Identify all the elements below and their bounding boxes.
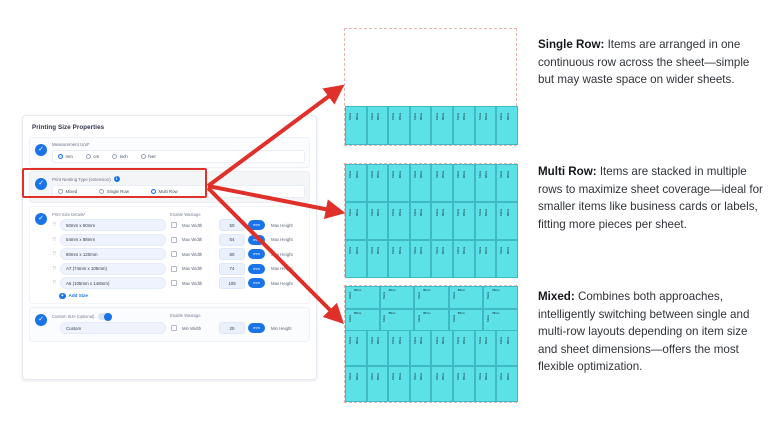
mixed-bottom-cells: 54mm88mm54mm88mm54mm88mm54mm88mm54mm88mm… bbox=[345, 330, 518, 402]
plus-icon: + bbox=[59, 293, 66, 300]
custom-header: Custom Size (optional) Enable Wastage bbox=[52, 312, 305, 322]
max-width-label: Max Width bbox=[182, 252, 216, 257]
mixed-top-cells: 88mm54mm88mm54mm88mm54mm88mm54mm88mm54mm… bbox=[345, 286, 518, 332]
cell-label-height: 54mm bbox=[453, 292, 456, 299]
add-size-button[interactable]: + Add Size bbox=[52, 292, 305, 300]
cell-label-height: 88mm bbox=[507, 337, 510, 344]
wastage-checkbox[interactable] bbox=[171, 237, 177, 243]
cell-label-width: 88mm bbox=[423, 289, 430, 292]
cell-label-width: 54mm bbox=[414, 209, 417, 216]
diagram-mixed-sheet: 88mm54mm88mm54mm88mm54mm88mm54mm88mm54mm… bbox=[344, 285, 517, 403]
wastage-checkbox[interactable] bbox=[171, 280, 177, 286]
sheet-cell: 88mm54mm bbox=[345, 286, 380, 309]
cell-label-height: 88mm bbox=[399, 113, 402, 120]
cell-label-height: 88mm bbox=[485, 247, 488, 254]
cell-label-width: 54mm bbox=[349, 209, 352, 216]
custom-size-input[interactable]: Custom bbox=[60, 322, 166, 334]
sheet-cell: 88mm54mm bbox=[483, 286, 518, 309]
cell-label-height: 88mm bbox=[442, 337, 445, 344]
cell-label-width: 54mm bbox=[436, 171, 439, 178]
sheet-cell: 54mm88mm bbox=[345, 330, 367, 366]
label-enable-wastage: Enable Wastage bbox=[170, 212, 201, 217]
sheet-cell: 54mm88mm bbox=[345, 106, 367, 145]
sheet-cell: 54mm88mm bbox=[388, 330, 410, 366]
cell-label-width: 54mm bbox=[371, 337, 374, 344]
cell-label-width: 54mm bbox=[500, 113, 503, 120]
cell-label-width: 88mm bbox=[492, 289, 499, 292]
cell-label-height: 88mm bbox=[442, 209, 445, 216]
size-name-input[interactable]: 50mm x 50mm bbox=[60, 219, 166, 231]
annotation-term-multi-row: Multi Row: bbox=[538, 165, 597, 178]
custom-size-toggle[interactable] bbox=[98, 313, 112, 320]
max-width-label: Max Width bbox=[182, 266, 216, 271]
min-width-label: Min Width bbox=[182, 326, 216, 331]
max-width-input[interactable]: 105 bbox=[219, 277, 245, 289]
cell-label-height: 88mm bbox=[356, 373, 359, 380]
wastage-checkbox-custom[interactable] bbox=[171, 325, 177, 331]
annotation-term-single-row: Single Row: bbox=[538, 38, 604, 51]
check-icon-custom: ✓ bbox=[35, 314, 47, 326]
radio-dot-cm bbox=[86, 154, 91, 159]
cell-label-width: 54mm bbox=[371, 171, 374, 178]
cell-label-height: 88mm bbox=[463, 113, 466, 120]
cell-label-width: 54mm bbox=[436, 337, 439, 344]
page-title: Printing Size Properties bbox=[23, 116, 316, 137]
sheet-cell: 54mm88mm bbox=[367, 330, 389, 366]
max-width-label: Max Width bbox=[182, 281, 216, 286]
cell-label-height: 88mm bbox=[377, 247, 380, 254]
sheet-cell: 54mm88mm bbox=[475, 164, 497, 202]
sheet-cell: 88mm54mm bbox=[380, 309, 415, 332]
radio-dot-single-row bbox=[99, 189, 104, 194]
custom-size-row: Custom Min Width 20 mm Min Height bbox=[52, 322, 305, 334]
cell-label-width: 54mm bbox=[414, 171, 417, 178]
nesting-label-text: Print Nesting Type (extension) bbox=[52, 177, 111, 182]
unit-badge: mm bbox=[248, 264, 265, 274]
annotation-mixed: Mixed: Combines both approaches, intelli… bbox=[538, 288, 766, 376]
cell-label-height: 88mm bbox=[463, 247, 466, 254]
cell-label-height: 88mm bbox=[377, 373, 380, 380]
cell-label-width: 88mm bbox=[389, 312, 396, 315]
annotation-term-mixed: Mixed: bbox=[538, 290, 575, 303]
cell-label-height: 88mm bbox=[507, 247, 510, 254]
cell-label-height: 88mm bbox=[399, 209, 402, 216]
max-width-input[interactable]: 80 bbox=[219, 248, 245, 260]
sheet-cell: 88mm54mm bbox=[483, 309, 518, 332]
sheet-cell: 88mm54mm bbox=[414, 286, 449, 309]
radio-nesting-single-row[interactable]: Single Row bbox=[99, 189, 129, 194]
multi-row-cells: 54mm88mm54mm88mm54mm88mm54mm88mm54mm88mm… bbox=[345, 164, 518, 278]
sheet-cell: 54mm88mm bbox=[453, 366, 475, 402]
sheet-cell: 54mm88mm bbox=[367, 164, 389, 202]
cell-label-height: 54mm bbox=[418, 292, 421, 299]
cell-label-height: 88mm bbox=[399, 247, 402, 254]
cell-label-width: 54mm bbox=[500, 373, 503, 380]
cell-label-width: 54mm bbox=[436, 209, 439, 216]
sheet-cell: 54mm88mm bbox=[431, 240, 453, 278]
sheet-cell: 54mm88mm bbox=[410, 164, 432, 202]
radio-dot-mixed bbox=[58, 189, 63, 194]
drag-handle-icon[interactable]: ⠿ bbox=[52, 266, 57, 272]
sheet-cell: 88mm54mm bbox=[345, 309, 380, 332]
radio-group-measurement-unit: mm cm inch feet bbox=[52, 150, 305, 163]
cell-label-height: 88mm bbox=[399, 171, 402, 178]
check-icon-nesting: ✓ bbox=[35, 178, 47, 190]
cell-label-height: 88mm bbox=[377, 337, 380, 344]
unit-badge: mm bbox=[248, 220, 265, 230]
sheet-cell: 54mm88mm bbox=[496, 164, 518, 202]
cell-label-height: 88mm bbox=[420, 337, 423, 344]
cell-label-width: 54mm bbox=[457, 247, 460, 254]
cell-label-height: 88mm bbox=[507, 373, 510, 380]
sheet-cell: 54mm88mm bbox=[496, 366, 518, 402]
cell-label-width: 54mm bbox=[349, 337, 352, 344]
wastage-checkbox[interactable] bbox=[171, 222, 177, 228]
unit-badge: mm bbox=[248, 235, 265, 245]
cell-label-width: 54mm bbox=[479, 171, 482, 178]
sheet-cell: 54mm88mm bbox=[496, 330, 518, 366]
sheet-cell: 54mm88mm bbox=[388, 106, 410, 145]
max-height-label: Max Height bbox=[271, 266, 293, 271]
cell-label-width: 54mm bbox=[349, 373, 352, 380]
max-width-input[interactable]: 74 bbox=[219, 263, 245, 275]
add-size-label: Add Size bbox=[69, 293, 88, 298]
sheet-cell: 54mm88mm bbox=[388, 202, 410, 240]
cell-label-height: 54mm bbox=[487, 315, 490, 322]
sheet-cell: 88mm54mm bbox=[449, 286, 484, 309]
cell-label-height: 88mm bbox=[463, 171, 466, 178]
cell-label-width: 88mm bbox=[354, 312, 361, 315]
cell-label-height: 88mm bbox=[399, 373, 402, 380]
cell-label-width: 54mm bbox=[457, 113, 460, 120]
cell-label-width: 88mm bbox=[354, 289, 361, 292]
sheet-cell: 54mm88mm bbox=[367, 366, 389, 402]
info-icon[interactable]: i bbox=[114, 176, 120, 182]
cell-label-width: 54mm bbox=[457, 171, 460, 178]
cell-label-height: 88mm bbox=[463, 209, 466, 216]
cell-label-height: 88mm bbox=[485, 171, 488, 178]
sheet-cell: 54mm88mm bbox=[431, 202, 453, 240]
sheet-cell: 88mm54mm bbox=[414, 309, 449, 332]
cell-label-width: 54mm bbox=[500, 247, 503, 254]
sheet-cell: 54mm88mm bbox=[453, 240, 475, 278]
cell-label-height: 88mm bbox=[442, 113, 445, 120]
section-print-size-details: ✓ Print Size Details* Enable Wastage ⠿ 5… bbox=[29, 206, 310, 304]
diagram-single-row-sheet: 54mm88mm54mm88mm54mm88mm54mm88mm54mm88mm… bbox=[344, 28, 517, 146]
cell-label-width: 54mm bbox=[349, 247, 352, 254]
radio-unit-mm[interactable]: mm bbox=[58, 154, 73, 159]
cell-label-width: 54mm bbox=[392, 247, 395, 254]
cell-label-width: 54mm bbox=[436, 373, 439, 380]
cell-label-height: 88mm bbox=[356, 247, 359, 254]
sheet-cell: 88mm54mm bbox=[449, 309, 484, 332]
diagram-multi-row-sheet: 54mm88mm54mm88mm54mm88mm54mm88mm54mm88mm… bbox=[344, 163, 517, 277]
cell-label-width: 88mm bbox=[389, 289, 396, 292]
cell-label-height: 88mm bbox=[420, 373, 423, 380]
sheet-cell: 88mm54mm bbox=[380, 286, 415, 309]
radio-nesting-multi-row[interactable]: Multi Row bbox=[151, 189, 178, 194]
label-print-size-details: Print Size Details* bbox=[52, 212, 170, 217]
sheet-cell: 54mm88mm bbox=[431, 164, 453, 202]
sheet-cell: 54mm88mm bbox=[410, 330, 432, 366]
cell-label-height: 88mm bbox=[377, 209, 380, 216]
max-height-label: Max Height bbox=[271, 223, 293, 228]
wastage-checkbox[interactable] bbox=[171, 251, 177, 257]
sheet-cell: 54mm88mm bbox=[496, 240, 518, 278]
sheet-cell: 54mm88mm bbox=[475, 366, 497, 402]
cell-label-width: 54mm bbox=[500, 171, 503, 178]
cell-label-height: 54mm bbox=[418, 315, 421, 322]
cell-label-width: 54mm bbox=[371, 113, 374, 120]
radio-nesting-mixed[interactable]: Mixed bbox=[58, 189, 77, 194]
sheet-cell: 54mm88mm bbox=[453, 330, 475, 366]
unit-badge: mm bbox=[248, 249, 265, 259]
label-custom-size: Custom Size (optional) bbox=[52, 314, 94, 319]
cell-label-width: 54mm bbox=[500, 337, 503, 344]
sheet-cell: 54mm88mm bbox=[410, 240, 432, 278]
max-width-input[interactable]: 54 bbox=[219, 234, 245, 246]
cell-label-width: 54mm bbox=[457, 209, 460, 216]
cell-label-width: 54mm bbox=[414, 113, 417, 120]
max-height-label: Max Height bbox=[271, 281, 293, 286]
cell-label-width: 88mm bbox=[458, 312, 465, 315]
radio-dot-multi-row bbox=[151, 189, 156, 194]
min-height-label: Min Height bbox=[271, 326, 292, 331]
cell-label-height: 54mm bbox=[383, 292, 386, 299]
cell-label-height: 88mm bbox=[420, 171, 423, 178]
sheet-cell: 54mm88mm bbox=[410, 106, 432, 145]
cell-label-height: 88mm bbox=[485, 337, 488, 344]
section-custom-size: ✓ Custom Size (optional) Enable Wastage … bbox=[29, 307, 310, 342]
sheet-cell: 54mm88mm bbox=[475, 330, 497, 366]
cell-label-height: 88mm bbox=[420, 113, 423, 120]
cell-label-height: 88mm bbox=[507, 171, 510, 178]
radio-unit-feet[interactable]: feet bbox=[141, 154, 156, 159]
cell-label-height: 88mm bbox=[485, 209, 488, 216]
cell-label-width: 54mm bbox=[392, 209, 395, 216]
sheet-cell: 54mm88mm bbox=[345, 164, 367, 202]
size-name-input[interactable]: A6 (105mm x 148mm) bbox=[60, 277, 166, 289]
cell-label-height: 54mm bbox=[453, 315, 456, 322]
radio-dot-feet bbox=[141, 154, 146, 159]
cell-label-width: 54mm bbox=[349, 171, 352, 178]
max-height-label: Max Height bbox=[271, 252, 293, 257]
cell-label-height: 54mm bbox=[487, 292, 490, 299]
check-icon-size-details: ✓ bbox=[35, 213, 47, 225]
cell-label-width: 54mm bbox=[392, 373, 395, 380]
cell-label-width: 54mm bbox=[349, 113, 352, 120]
table-row: ⠿ 54mm x 88mm Max Width 54 mm Max Height bbox=[52, 234, 305, 246]
cell-label-width: 54mm bbox=[479, 247, 482, 254]
sheet-cell: 54mm88mm bbox=[496, 106, 518, 145]
sheet-cell: 54mm88mm bbox=[410, 366, 432, 402]
cell-label-height: 88mm bbox=[442, 171, 445, 178]
cell-label-width: 88mm bbox=[423, 312, 430, 315]
radio-unit-cm[interactable]: cm bbox=[86, 154, 99, 159]
cell-label-height: 88mm bbox=[356, 113, 359, 120]
radio-group-nesting-type: Mixed Single Row Multi Row bbox=[52, 185, 305, 198]
size-table-header: Print Size Details* Enable Wastage bbox=[52, 211, 305, 219]
table-row: ⠿ A7 (74mm x 105mm) Max Width 74 mm Max … bbox=[52, 263, 305, 275]
check-icon-measurement: ✓ bbox=[35, 144, 47, 156]
cell-label-width: 54mm bbox=[371, 373, 374, 380]
cell-label-width: 54mm bbox=[479, 373, 482, 380]
label-enable-wastage-custom: Enable Wastage bbox=[170, 313, 201, 320]
sheet-cell: 54mm88mm bbox=[453, 106, 475, 145]
size-name-input[interactable]: A7 (74mm x 105mm) bbox=[60, 263, 166, 275]
cell-label-width: 54mm bbox=[500, 209, 503, 216]
label-print-nesting-type: Print Nesting Type (extension) i bbox=[52, 176, 305, 182]
sheet-cell: 54mm88mm bbox=[388, 164, 410, 202]
cell-label-width: 54mm bbox=[457, 337, 460, 344]
sheet-cell: 54mm88mm bbox=[431, 106, 453, 145]
wastage-checkbox[interactable] bbox=[171, 266, 177, 272]
section-print-nesting-type: ✓ Print Nesting Type (extension) i Mixed… bbox=[29, 171, 310, 203]
cell-label-height: 88mm bbox=[356, 209, 359, 216]
unit-badge-custom: mm bbox=[248, 323, 265, 333]
cell-label-height: 88mm bbox=[485, 113, 488, 120]
sheet-cell: 54mm88mm bbox=[475, 202, 497, 240]
cell-label-height: 88mm bbox=[420, 247, 423, 254]
max-width-label: Max Width bbox=[182, 223, 216, 228]
sheet-cell: 54mm88mm bbox=[496, 202, 518, 240]
cell-label-height: 88mm bbox=[507, 113, 510, 120]
sheet-cell: 54mm88mm bbox=[475, 240, 497, 278]
drag-handle-icon[interactable]: ⠿ bbox=[52, 237, 57, 243]
annotation-multi-row: Multi Row: Items are stacked in multiple… bbox=[538, 163, 766, 233]
cell-label-width: 54mm bbox=[414, 247, 417, 254]
sheet-cell: 54mm88mm bbox=[453, 202, 475, 240]
cell-label-height: 88mm bbox=[442, 373, 445, 380]
cell-label-height: 88mm bbox=[356, 337, 359, 344]
cell-label-width: 54mm bbox=[479, 113, 482, 120]
cell-label-height: 88mm bbox=[442, 247, 445, 254]
drag-handle-icon[interactable]: ⠿ bbox=[52, 251, 57, 257]
cell-label-width: 54mm bbox=[436, 113, 439, 120]
sheet-cell: 54mm88mm bbox=[367, 106, 389, 145]
label-measurement-unit: Measurement Unit* bbox=[52, 142, 305, 147]
cell-label-height: 54mm bbox=[383, 315, 386, 322]
cell-label-width: 54mm bbox=[479, 209, 482, 216]
size-name-input[interactable]: 80mm x 120mm bbox=[60, 248, 166, 260]
radio-unit-inch[interactable]: inch bbox=[112, 154, 128, 159]
min-width-input[interactable]: 20 bbox=[219, 322, 245, 334]
sheet-cell: 54mm88mm bbox=[367, 240, 389, 278]
sheet-cell: 54mm88mm bbox=[367, 202, 389, 240]
table-row: ⠿ 80mm x 120mm Max Width 80 mm Max Heigh… bbox=[52, 248, 305, 260]
cell-label-height: 88mm bbox=[463, 337, 466, 344]
cell-label-height: 54mm bbox=[349, 292, 352, 299]
cell-label-width: 88mm bbox=[492, 312, 499, 315]
cell-label-width: 54mm bbox=[371, 209, 374, 216]
sheet-cell: 54mm88mm bbox=[388, 240, 410, 278]
sheet-cell: 54mm88mm bbox=[345, 240, 367, 278]
sheet-cell: 54mm88mm bbox=[345, 202, 367, 240]
annotation-single-row: Single Row: Items are arranged in one co… bbox=[538, 36, 766, 89]
cell-label-height: 88mm bbox=[420, 209, 423, 216]
max-width-label: Max Width bbox=[182, 237, 216, 242]
cell-label-height: 88mm bbox=[485, 373, 488, 380]
drag-handle-icon[interactable]: ⠿ bbox=[52, 222, 57, 228]
sheet-cell: 54mm88mm bbox=[345, 366, 367, 402]
cell-label-height: 88mm bbox=[377, 113, 380, 120]
sheet-cell: 54mm88mm bbox=[410, 202, 432, 240]
sheet-cell: 54mm88mm bbox=[453, 164, 475, 202]
cell-label-width: 54mm bbox=[414, 373, 417, 380]
radio-dot-inch bbox=[112, 154, 117, 159]
size-name-input[interactable]: 54mm x 88mm bbox=[60, 234, 166, 246]
section-measurement-unit: ✓ Measurement Unit* mm cm inch feet bbox=[29, 137, 310, 168]
cell-label-height: 88mm bbox=[356, 171, 359, 178]
slide-canvas: Printing Size Properties ✓ Measurement U… bbox=[0, 0, 768, 432]
max-width-input[interactable]: 50 bbox=[219, 219, 245, 231]
cell-label-height: 88mm bbox=[463, 373, 466, 380]
sheet-cell: 54mm88mm bbox=[475, 106, 497, 145]
single-row-cells: 54mm88mm54mm88mm54mm88mm54mm88mm54mm88mm… bbox=[345, 106, 518, 145]
cell-label-width: 88mm bbox=[458, 289, 465, 292]
cell-label-width: 54mm bbox=[392, 113, 395, 120]
printing-size-properties-card: Printing Size Properties ✓ Measurement U… bbox=[22, 115, 317, 380]
unit-badge: mm bbox=[248, 278, 265, 288]
cell-label-width: 54mm bbox=[414, 337, 417, 344]
sheet-cell: 54mm88mm bbox=[431, 366, 453, 402]
cell-label-height: 88mm bbox=[399, 337, 402, 344]
cell-label-height: 54mm bbox=[349, 315, 352, 322]
cell-label-width: 54mm bbox=[457, 373, 460, 380]
cell-label-width: 54mm bbox=[392, 337, 395, 344]
cell-label-width: 54mm bbox=[479, 337, 482, 344]
table-row: ⠿ 50mm x 50mm Max Width 50 mm Max Height bbox=[52, 219, 305, 231]
cell-label-width: 54mm bbox=[392, 171, 395, 178]
radio-dot-mm bbox=[58, 154, 63, 159]
sheet-cell: 54mm88mm bbox=[431, 330, 453, 366]
table-row: ⠿ A6 (105mm x 148mm) Max Width 105 mm Ma… bbox=[52, 277, 305, 289]
cell-label-height: 88mm bbox=[507, 209, 510, 216]
cell-label-height: 88mm bbox=[377, 171, 380, 178]
max-height-label: Max Height bbox=[271, 237, 293, 242]
cell-label-width: 54mm bbox=[371, 247, 374, 254]
drag-handle-icon[interactable]: ⠿ bbox=[52, 280, 57, 286]
cell-label-width: 54mm bbox=[436, 247, 439, 254]
sheet-cell: 54mm88mm bbox=[388, 366, 410, 402]
